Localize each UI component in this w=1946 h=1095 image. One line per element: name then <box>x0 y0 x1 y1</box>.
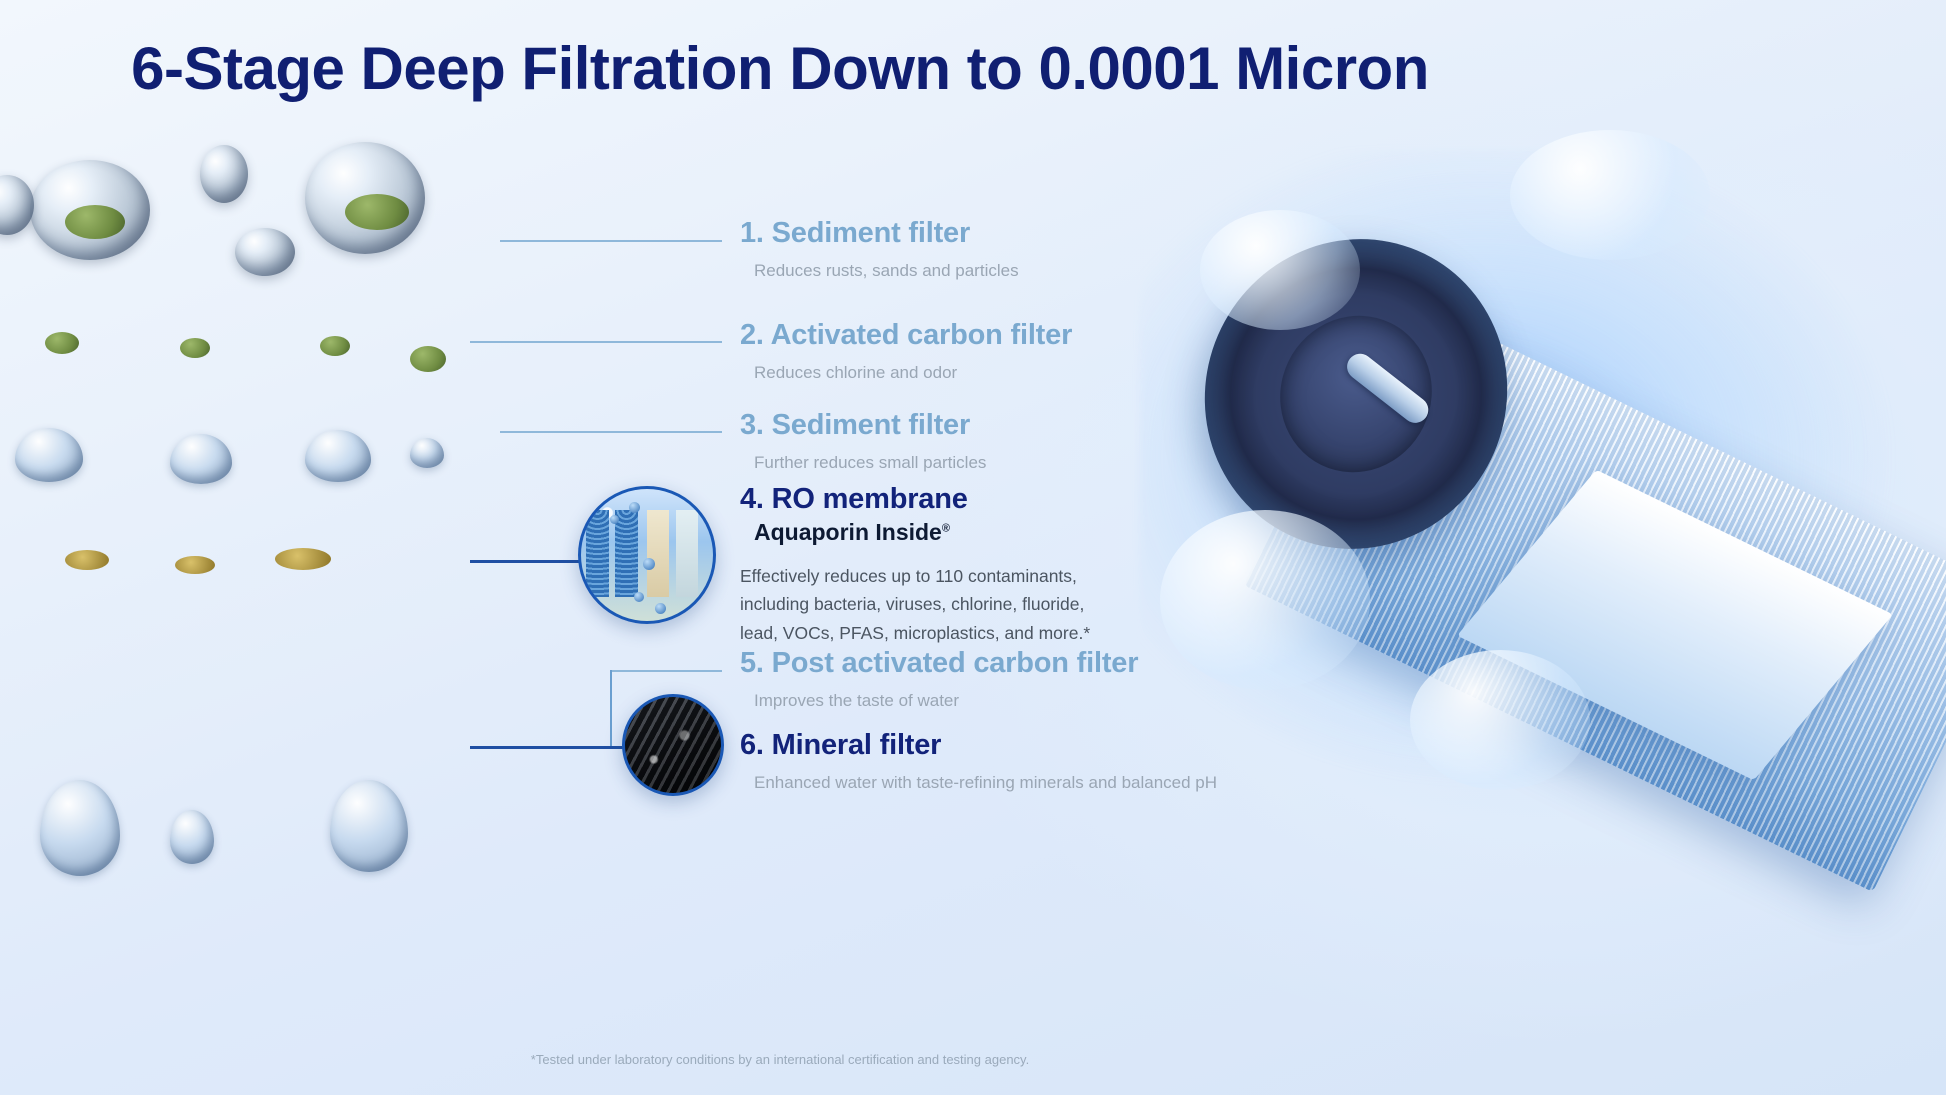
aquaporin-brand-line: Aquaporin Inside® <box>754 519 1440 546</box>
ro-membrane-inset-image <box>578 486 716 624</box>
contaminant-bubble <box>235 228 295 276</box>
stage-item-3: 3. Sediment filter Further reduces small… <box>740 410 1440 475</box>
membrane-column <box>676 510 698 597</box>
connector-line-stage-2 <box>470 341 722 343</box>
water-splash <box>1510 130 1710 260</box>
stage-item-4: 4. RO membrane Aquaporin Inside® Effecti… <box>740 484 1440 647</box>
membrane-column <box>615 510 637 597</box>
connector-line-stage-1 <box>500 240 722 242</box>
connector-line-stage-5-vertical <box>610 670 612 748</box>
water-droplet <box>305 430 371 482</box>
contaminant-germ <box>175 556 215 574</box>
water-droplet <box>170 810 214 864</box>
stage-description-2: Reduces chlorine and odor <box>754 362 1440 385</box>
stage-label-list: 1. Sediment filter Reduces rusts, sands … <box>740 0 1460 1095</box>
membrane-column <box>647 510 669 597</box>
stage-description-6: Enhanced water with taste-refining miner… <box>754 772 1440 795</box>
stage-title-1: 1. Sediment filter <box>740 218 1440 250</box>
stage-description-4: Effectively reduces up to 110 contaminan… <box>740 562 1110 647</box>
contaminant-bubble <box>200 145 248 203</box>
water-molecule <box>629 502 640 513</box>
contaminant-germ <box>320 336 350 356</box>
stage-title-2: 2. Activated carbon filter <box>740 320 1440 352</box>
stage-title-6: 6. Mineral filter <box>740 730 1440 762</box>
stage-item-1: 1. Sediment filter Reduces rusts, sands … <box>740 218 1440 283</box>
stage-title-5: 5. Post activated carbon filter <box>740 648 1440 680</box>
connector-line-stage-6 <box>470 746 630 749</box>
contaminant-germ <box>65 205 125 239</box>
mineral-filter-inset-image <box>622 694 724 796</box>
contaminant-germ <box>410 346 446 372</box>
stage-description-1: Reduces rusts, sands and particles <box>754 260 1440 283</box>
stage-description-5: Improves the taste of water <box>754 690 1440 713</box>
footnote-disclaimer: *Tested under laboratory conditions by a… <box>0 1052 1560 1067</box>
water-molecule <box>634 592 644 602</box>
contaminant-germ <box>275 548 331 570</box>
stage-item-2: 2. Activated carbon filter Reduces chlor… <box>740 320 1440 385</box>
stage-item-5: 5. Post activated carbon filter Improves… <box>740 648 1440 713</box>
filter-layer-stack-illustration <box>0 150 710 830</box>
connector-line-stage-4 <box>470 560 582 563</box>
water-droplet <box>410 438 444 468</box>
contaminant-germ <box>345 194 409 230</box>
contaminant-germ <box>65 550 109 570</box>
contaminant-germ <box>180 338 210 358</box>
contaminant-germ <box>45 332 79 354</box>
water-molecule <box>655 603 666 614</box>
infographic-canvas: 6-Stage Deep Filtration Down to 0.0001 M… <box>0 0 1946 1095</box>
water-droplet <box>170 434 232 484</box>
stage-item-6: 6. Mineral filter Enhanced water with ta… <box>740 730 1440 795</box>
aquaporin-brand-name: Aquaporin Inside <box>754 519 942 545</box>
water-molecule <box>643 558 655 570</box>
stage-title-3: 3. Sediment filter <box>740 410 1440 442</box>
stage-description-3: Further reduces small particles <box>754 452 1440 475</box>
stage-title-4: 4. RO membrane <box>740 484 1440 516</box>
membrane-column <box>586 510 608 597</box>
water-droplet <box>15 428 83 482</box>
water-droplet <box>40 780 120 876</box>
connector-line-stage-5 <box>610 670 722 672</box>
connector-line-stage-3 <box>500 431 722 433</box>
water-droplet <box>330 780 408 872</box>
contaminant-bubble <box>0 175 34 235</box>
registered-trademark-icon: ® <box>942 522 950 534</box>
